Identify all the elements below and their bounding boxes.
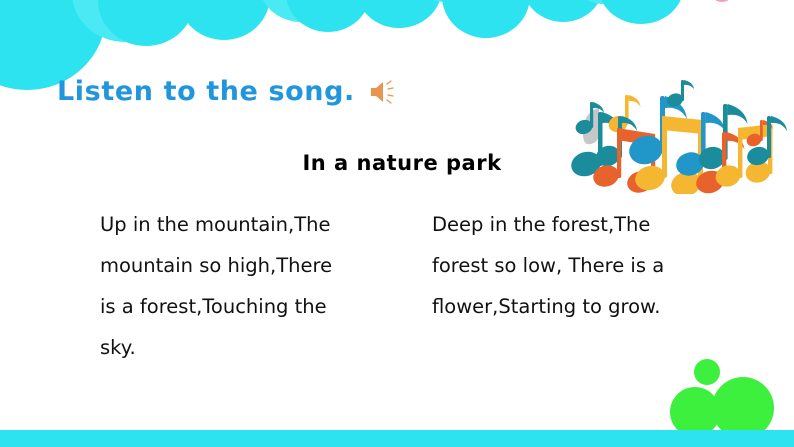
bottom-accent-bar	[0, 430, 794, 447]
slide-canvas: Listen to the song.	[0, 0, 794, 447]
bubble-10	[522, 0, 604, 22]
heading-row: Listen to the song.	[57, 76, 399, 107]
bubble-pink	[710, 0, 734, 2]
song-title: In a nature park	[0, 151, 794, 175]
green-circle-small	[694, 359, 720, 385]
bubble-12	[598, 0, 684, 24]
lyrics-column-left: Up in the mountain,The mountain so high,…	[100, 204, 350, 368]
bubble-8	[412, 0, 478, 2]
bubble-4	[178, 0, 270, 40]
bubble-7	[356, 0, 442, 28]
speaker-icon[interactable]	[369, 79, 399, 105]
bubble-3	[98, 0, 194, 46]
bubble-9	[442, 0, 530, 38]
lyrics-column-right: Deep in the forest,The forest so low, Th…	[432, 204, 687, 327]
bubble-2	[72, 0, 178, 42]
bubble-5	[258, 0, 344, 22]
page-title: Listen to the song.	[57, 76, 355, 107]
music-notes-decoration	[562, 72, 790, 194]
bubble-6	[286, 0, 370, 32]
bubble-11	[568, 0, 640, 4]
